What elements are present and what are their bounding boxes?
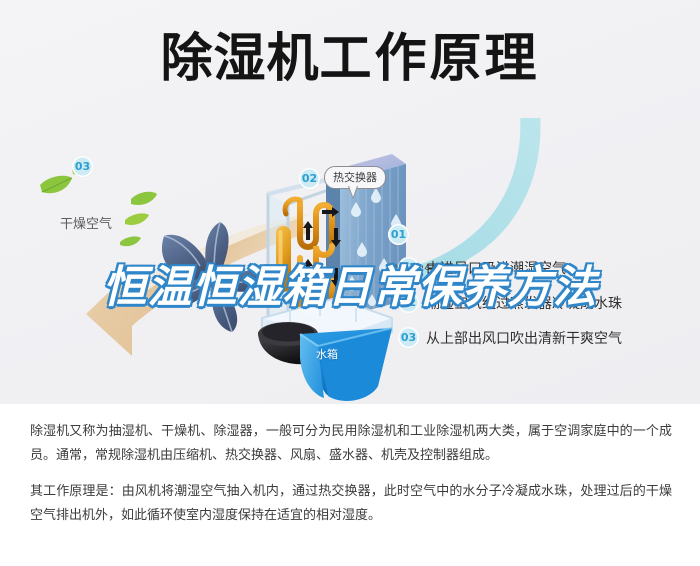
callout-tail-icon xyxy=(348,186,358,199)
page-root: 除湿机工作原理 xyxy=(0,0,700,566)
paragraph-2: 其工作原理是：由风机将潮湿空气抽入机内，通过热交换器，此时空气中的水分子冷凝成水… xyxy=(30,480,672,528)
article-body: 除湿机又称为抽湿机、干燥机、除湿器，一般可分为民用除湿机和工业除湿机两大类，属于… xyxy=(30,420,672,540)
leaf-decoration xyxy=(40,164,157,246)
badge-02-heat-exchanger: 02 xyxy=(299,168,320,189)
watermark-overlay-text: 恒温恒湿箱日常保养方法 xyxy=(0,262,700,314)
poster-title-part1: 除湿机 xyxy=(160,29,319,89)
label-water-tank: 水箱 xyxy=(316,346,338,362)
legend-text-03: 从上部出风口吹出清新干爽空气 xyxy=(426,328,622,348)
legend-badge-03: 03 xyxy=(398,327,419,348)
legend-item-03: 03 从上部出风口吹出清新干爽空气 xyxy=(398,326,688,349)
label-dry-air: 干燥空气 xyxy=(60,213,112,232)
poster-title: 除湿机工作原理 xyxy=(0,30,700,88)
badge-03-dry-air: 03 xyxy=(72,156,93,177)
paragraph-1: 除湿机又称为抽湿机、干燥机、除湿器，一般可分为民用除湿机和工业除湿机两大类，属于… xyxy=(30,420,672,468)
water-tank xyxy=(300,328,392,401)
badge-01-humid-air: 01 xyxy=(388,224,409,245)
poster-title-part2: 工作原理 xyxy=(320,29,540,89)
infographic-poster: 除湿机工作原理 xyxy=(0,0,700,404)
